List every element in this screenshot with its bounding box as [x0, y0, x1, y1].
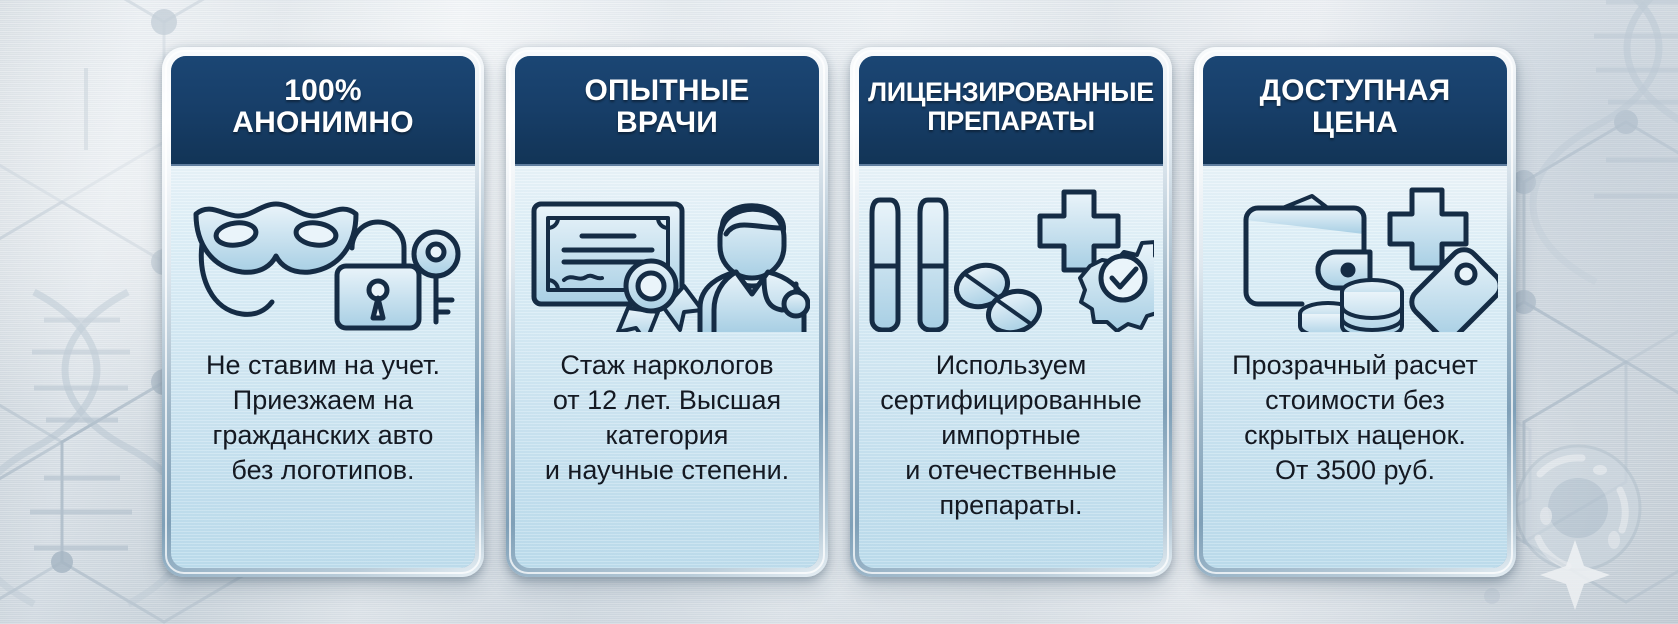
- doctor-icon: [700, 205, 808, 332]
- card-title: ДОСТУПНАЯ ЦЕНА: [1260, 75, 1451, 140]
- card-description-wrap: Прозрачный расчет стоимости без скрытых …: [1220, 342, 1490, 568]
- card-description: Прозрачный расчет стоимости без скрытых …: [1232, 348, 1478, 488]
- feature-card-affordable-price[interactable]: ДОСТУПНАЯ ЦЕНА: [1194, 47, 1516, 577]
- medical-cross-icon: [1040, 192, 1118, 270]
- card-title: ОПЫТНЫЕ ВРАЧИ: [584, 75, 749, 140]
- coins-icon: [1300, 280, 1402, 332]
- card-title: ЛИЦЕНЗИРОВАННЫЕ ПРЕПАРАТЫ: [868, 78, 1154, 136]
- card-body: Используем сертифицированные импортные и…: [859, 166, 1163, 568]
- card-header: ОПЫТНЫЕ ВРАЧИ: [515, 56, 819, 166]
- card-inner: 100% АНОНИМНО: [171, 56, 475, 568]
- card-body: Прозрачный расчет стоимости без скрытых …: [1203, 166, 1507, 568]
- feature-card-row: 100% АНОНИМНО: [0, 0, 1678, 624]
- card-icon-group: [859, 166, 1163, 342]
- card-description-wrap: Используем сертифицированные импортные и…: [868, 342, 1154, 568]
- card-description: Используем сертифицированные импортные и…: [880, 348, 1142, 523]
- card-header: 100% АНОНИМНО: [171, 56, 475, 166]
- card-icon-group: [1203, 166, 1507, 342]
- card-title: 100% АНОНИМНО: [232, 75, 413, 140]
- card-inner: ОПЫТНЫЕ ВРАЧИ: [515, 56, 819, 568]
- card-icon-group: [171, 166, 475, 342]
- card-description-wrap: Не ставим на учет. Приезжаем на гражданс…: [194, 342, 452, 568]
- feature-card-anonymity[interactable]: 100% АНОНИМНО: [162, 47, 484, 577]
- card-inner: ЛИЦЕНЗИРОВАННЫЕ ПРЕПАРАТЫ: [859, 56, 1163, 568]
- card-description-wrap: Стаж наркологов от 12 лет. Высшая катего…: [533, 342, 801, 568]
- card-inner: ДОСТУПНАЯ ЦЕНА: [1203, 56, 1507, 568]
- award-rosette-icon: [618, 261, 702, 332]
- card-header: ЛИЦЕНЗИРОВАННЫЕ ПРЕПАРАТЫ: [859, 56, 1163, 166]
- card-description: Не ставим на учет. Приезжаем на гражданс…: [206, 348, 440, 488]
- card-body: Не ставим на учет. Приезжаем на гражданс…: [171, 166, 475, 568]
- card-header: ДОСТУПНАЯ ЦЕНА: [1203, 56, 1507, 166]
- card-description: Стаж наркологов от 12 лет. Высшая катего…: [545, 348, 789, 488]
- card-body: Стаж наркологов от 12 лет. Высшая катего…: [515, 166, 819, 568]
- card-icon-group: [515, 166, 819, 342]
- pill-icon: [951, 259, 1045, 332]
- feature-card-experienced-doctors[interactable]: ОПЫТНЫЕ ВРАЧИ: [506, 47, 828, 577]
- feature-card-licensed-drugs[interactable]: ЛИЦЕНЗИРОВАННЫЕ ПРЕПАРАТЫ: [850, 47, 1172, 577]
- carnival-mask-icon: [196, 204, 356, 314]
- ampoule-icon: [872, 200, 946, 330]
